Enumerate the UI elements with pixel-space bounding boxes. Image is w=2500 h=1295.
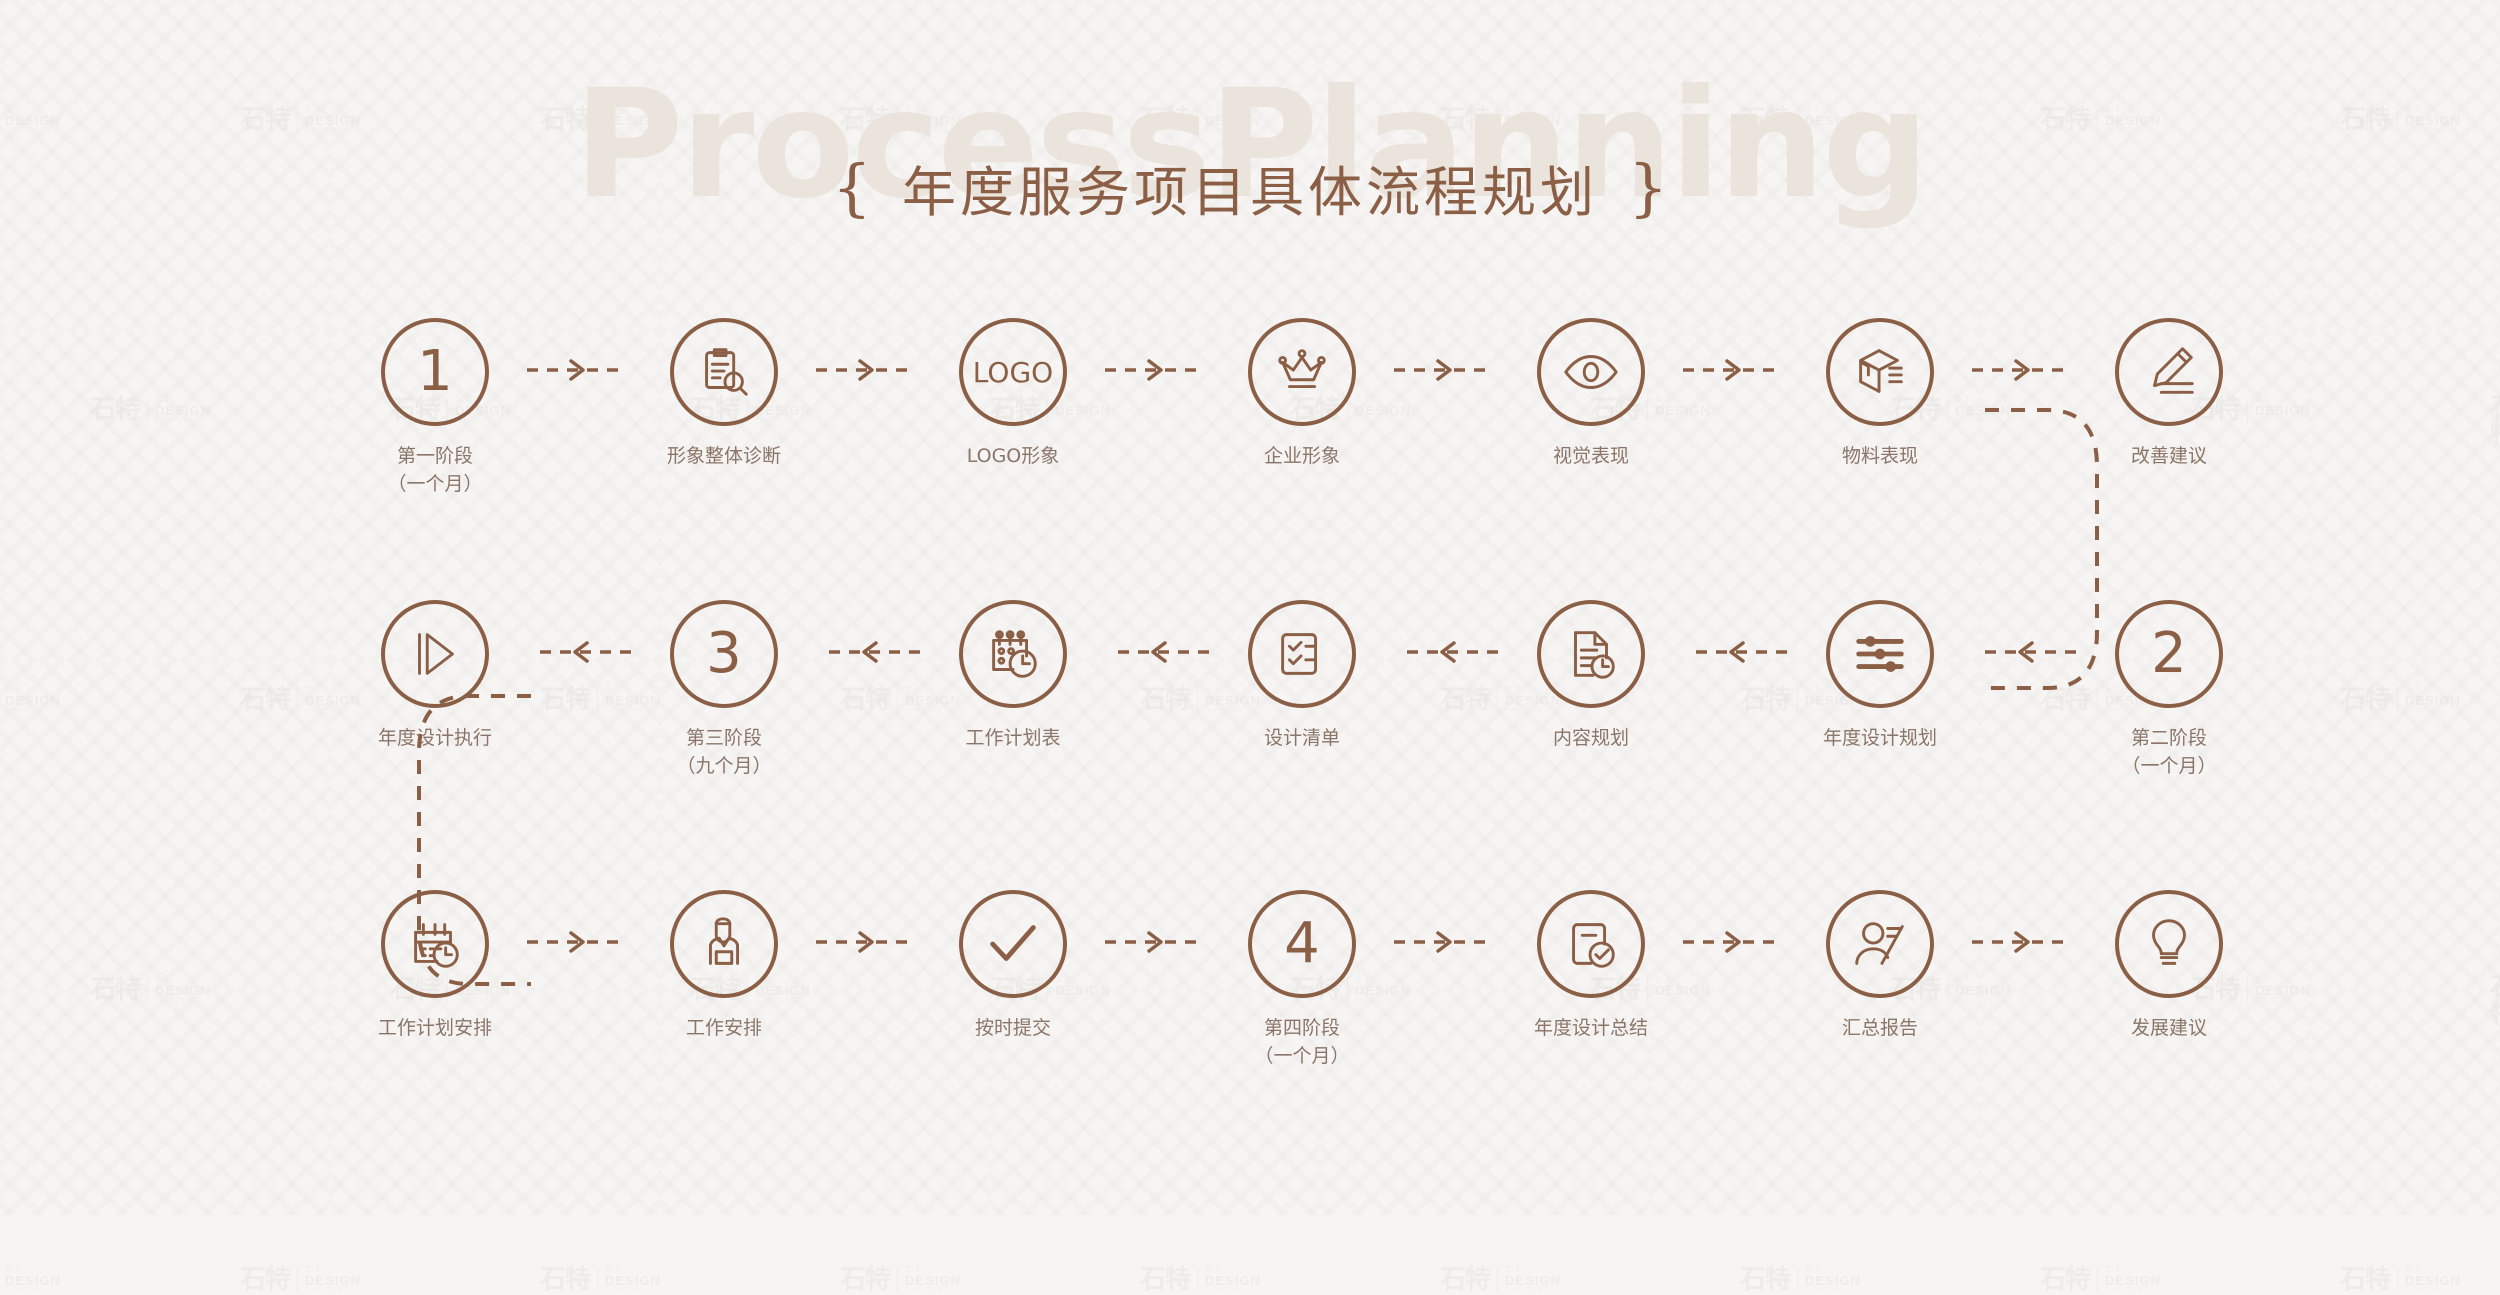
arrow-right-icon [1970,930,2078,956]
arrow-left-icon [1103,640,1211,666]
stage-number: 4 [1284,916,1320,972]
flow-node[interactable]: LOGOLOGO形象 [923,318,1103,471]
arrow-right-icon [1392,358,1500,384]
checklist-icon[interactable] [1248,600,1356,708]
watermark-divider [1497,1267,1498,1293]
watermark-en-text: S.T.DESIGNFURNITURE [605,1265,661,1294]
arrow-right-icon [1392,930,1500,956]
flow-node-label: 发展建议 [2079,1015,2259,1043]
watermark-en-text: S.T.DESIGNFURNITURE [1205,1265,1261,1294]
flow-node-sublabel: （一个月） [2079,753,2259,781]
process-flow: 1第一阶段（一个月）形象整体诊断LOGOLOGO形象企业形象视觉表现物料表现改善… [0,0,2500,1215]
watermark-logo: 石特S.T.DESIGNFURNITURE [540,1265,661,1294]
watermark-en-text: S.T.DESIGNFURNITURE [5,1265,61,1294]
clipboard-search-icon[interactable] [670,318,778,426]
watermark-en-text: S.T.DESIGNFURNITURE [2405,1265,2461,1294]
watermark-logo: 石特S.T.DESIGNFURNITURE [1740,1265,1861,1294]
flow-node-label: 工作安排 [634,1015,814,1043]
arrow-right-icon [1681,930,1789,956]
arrow-right-icon [525,358,633,384]
flow-node-label: 形象整体诊断 [634,443,814,471]
watermark-logo: 石特S.T.DESIGNFURNITURE [840,1265,961,1294]
watermark-divider [1797,1267,1798,1293]
flow-node-label: 年度设计规划 [1790,725,1970,753]
flow-node[interactable]: 1第一阶段（一个月） [345,318,525,498]
flow-node[interactable]: 汇总报告 [1790,890,1970,1043]
flow-node[interactable]: 按时提交 [923,890,1103,1043]
number-3[interactable]: 3 [670,600,778,708]
flow-node[interactable]: 视觉表现 [1501,318,1681,471]
watermark-cn-text: 石特 [1140,1267,1190,1293]
flow-node-label: 物料表现 [1790,443,1970,471]
watermark-logo: 石特S.T.DESIGNFURNITURE [2040,1265,2161,1294]
watermark-cn-text: 石特 [1440,1267,1490,1293]
arrow-left-icon [1392,640,1500,666]
flow-node[interactable]: 内容规划 [1501,600,1681,753]
stage-number: 2 [2151,626,2187,682]
flow-node-label: 设计清单 [1212,725,1392,753]
watermark-logo: 石特S.T.DESIGNFURNITURE [0,1265,61,1294]
watermark-cn-text: 石特 [2040,1267,2090,1293]
arrow-right-icon [1103,358,1211,384]
flow-node[interactable]: 年度设计规划 [1790,600,1970,753]
sliders-icon[interactable] [1826,600,1934,708]
flow-node[interactable]: 4第四阶段（一个月） [1212,890,1392,1070]
logo-word-text: LOGO [973,356,1053,389]
arrow-right-icon [1103,930,1211,956]
watermark-en-text: S.T.DESIGNFURNITURE [1505,1265,1561,1294]
watermark-cn-text: 石特 [240,1267,290,1293]
check-icon[interactable] [959,890,1067,998]
right-wrap-connector [1985,404,2115,694]
watermark-divider [297,1267,298,1293]
watermark-logo: 石特S.T.DESIGNFURNITURE [240,1265,361,1294]
arrow-right-icon [814,358,922,384]
flow-node[interactable]: 物料表现 [1790,318,1970,471]
flow-node-label: 企业形象 [1212,443,1392,471]
watermark-logo: 石特S.T.DESIGNFURNITURE [1140,1265,1261,1294]
arrow-right-icon [1970,358,2078,384]
note-check-icon[interactable] [1537,890,1645,998]
flow-node-label: 第一阶段（一个月） [345,443,525,498]
watermark-logo: 石特S.T.DESIGNFURNITURE [2340,1265,2461,1294]
watermark-en-text: S.T.DESIGNFURNITURE [905,1265,961,1294]
eye-icon[interactable] [1537,318,1645,426]
flow-node-label: 视觉表现 [1501,443,1681,471]
flow-node-label: 第二阶段（一个月） [2079,725,2259,780]
document-clock-icon[interactable] [1537,600,1645,708]
flow-node-label: LOGO形象 [923,443,1103,471]
calendar-clock-icon[interactable] [959,600,1067,708]
flow-node-label: 内容规划 [1501,725,1681,753]
flow-row-1: 1第一阶段（一个月）形象整体诊断LOGOLOGO形象企业形象视觉表现物料表现改善… [0,318,2500,518]
flow-node[interactable]: 3第三阶段（九个月） [634,600,814,780]
person-report-icon[interactable] [1826,890,1934,998]
lightbulb-icon[interactable] [2115,890,2223,998]
arrow-left-icon [1681,640,1789,666]
stage-number: 3 [706,626,742,682]
watermark-divider [597,1267,598,1293]
watermark-divider [1197,1267,1198,1293]
pen-write-icon[interactable] [2115,318,2223,426]
watermark-en-text: S.T.DESIGNFURNITURE [1805,1265,1861,1294]
logo-word[interactable]: LOGO [959,318,1067,426]
flow-node[interactable]: 设计清单 [1212,600,1392,753]
flow-node-label: 第四阶段（一个月） [1212,1015,1392,1070]
box-icon[interactable] [1826,318,1934,426]
flow-node-label: 第三阶段（九个月） [634,725,814,780]
flow-node[interactable]: 发展建议 [2079,890,2259,1043]
watermark-divider [2397,1267,2398,1293]
watermark-cn-text: 石特 [840,1267,890,1293]
flow-node-label: 工作计划安排 [345,1015,525,1043]
flow-node[interactable]: 年度设计总结 [1501,890,1681,1043]
arrow-left-icon [814,640,922,666]
flow-node-label: 年度设计总结 [1501,1015,1681,1043]
flow-node-sublabel: （一个月） [345,471,525,499]
watermark-divider [2097,1267,2098,1293]
flow-node-label: 按时提交 [923,1015,1103,1043]
crown-icon[interactable] [1248,318,1356,426]
stage-number: 1 [417,344,453,400]
arrow-right-icon [1681,358,1789,384]
flow-node[interactable]: 形象整体诊断 [634,318,814,471]
watermark-logo: 石特S.T.DESIGNFURNITURE [1440,1265,1561,1294]
flow-node[interactable]: 企业形象 [1212,318,1392,471]
watermark-cn-text: 石特 [1740,1267,1790,1293]
person-desk-icon[interactable] [670,890,778,998]
flow-node-sublabel: （一个月） [1212,1043,1392,1071]
flow-row-2: 年度设计执行3第三阶段（九个月）工作计划表设计清单内容规划年度设计规划2第二阶段… [0,600,2500,800]
flow-row-3: 工作计划安排工作安排按时提交4第四阶段（一个月）年度设计总结汇总报告发展建议 [0,890,2500,1090]
number-4[interactable]: 4 [1248,890,1356,998]
watermark-en-text: S.T.DESIGNFURNITURE [2105,1265,2161,1294]
flow-node-label: 工作计划表 [923,725,1103,753]
flow-node[interactable]: 工作安排 [634,890,814,1043]
watermark-divider [897,1267,898,1293]
arrow-right-icon [814,930,922,956]
watermark-cn-text: 石特 [540,1267,590,1293]
flow-node[interactable]: 工作计划表 [923,600,1103,753]
left-wrap-connector [403,690,533,990]
watermark-en-text: S.T.DESIGNFURNITURE [305,1265,361,1294]
watermark-cn-text: 石特 [2340,1267,2390,1293]
flow-node-label: 汇总报告 [1790,1015,1970,1043]
flow-node-sublabel: （九个月） [634,753,814,781]
arrow-left-icon [525,640,633,666]
number-1[interactable]: 1 [381,318,489,426]
arrow-right-icon [525,930,633,956]
number-2[interactable]: 2 [2115,600,2223,708]
